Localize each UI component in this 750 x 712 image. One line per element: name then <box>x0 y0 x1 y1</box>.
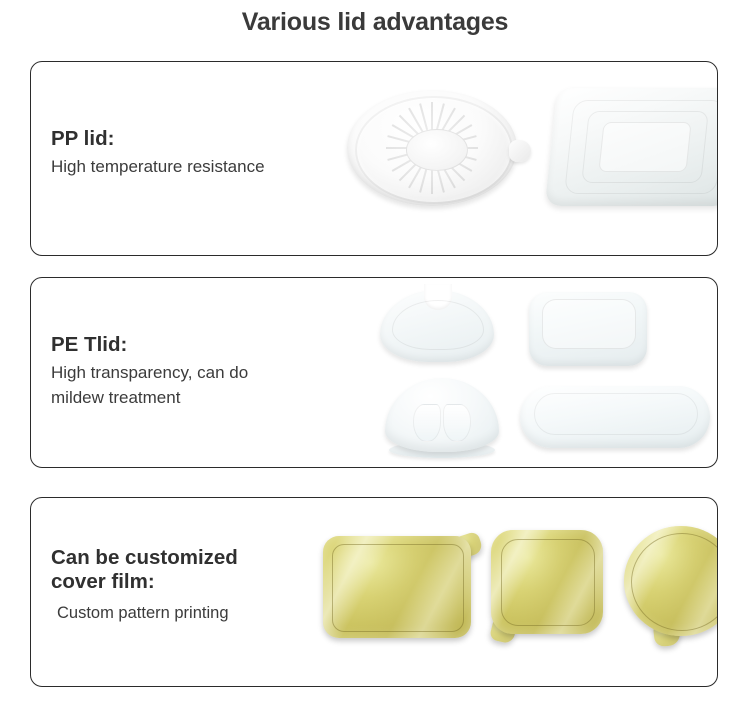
card-pp-lid: PP lid: High temperature resistance <box>30 61 718 256</box>
gold-foil-square-film-sheen <box>491 530 603 634</box>
pp-round-lid-image <box>341 84 531 214</box>
pp-rectangular-lid-rib-inner <box>598 122 691 172</box>
card-cover-film: Can be customized cover film: Custom pat… <box>30 497 718 687</box>
gold-foil-round-film-sheen <box>624 526 718 636</box>
gold-foil-rectangular-film-sheen <box>323 536 471 638</box>
gold-foil-rectangular-film-plate <box>323 536 471 638</box>
pe-heart-lid-image <box>376 286 500 372</box>
pp-rectangular-lid-image <box>543 80 718 220</box>
gold-foil-square-film-image <box>481 522 621 652</box>
pp-round-lid-center-hub <box>406 129 468 171</box>
pe-oval-lid-image <box>516 382 716 460</box>
pe-dome-lid-image <box>381 376 505 460</box>
card-pe-tlid-images <box>331 278 717 467</box>
pe-dome-lid-segment-left <box>413 404 441 442</box>
pe-oval-lid-inner-ring <box>534 393 698 435</box>
card-pe-tlid-text: PE Tlid: High transparency, can do milde… <box>51 333 341 410</box>
card-pp-lid-subtext: High temperature resistance <box>51 155 341 180</box>
gold-foil-round-film-image <box>616 520 718 654</box>
card-cover-film-text: Can be customized cover film: Custom pat… <box>51 546 341 626</box>
pe-square-lid-image <box>523 284 655 376</box>
card-cover-film-heading: Can be customized cover film: <box>51 546 341 594</box>
pe-square-lid-inner-ring <box>542 299 636 349</box>
gold-foil-square-film-plate <box>491 530 603 634</box>
card-pe-tlid: PE Tlid: High transparency, can do milde… <box>30 277 718 468</box>
card-cover-film-subtext: Custom pattern printing <box>51 602 341 626</box>
gold-foil-rectangular-film-image <box>317 526 487 646</box>
card-pp-lid-text: PP lid: High temperature resistance <box>51 127 341 180</box>
pe-dome-lid-segment-right <box>443 404 471 442</box>
card-pe-tlid-heading: PE Tlid: <box>51 333 341 357</box>
card-cover-film-images <box>331 498 717 686</box>
gold-foil-round-film-plate <box>624 526 718 636</box>
card-pp-lid-heading: PP lid: <box>51 127 341 151</box>
pp-round-lid-tab <box>509 140 531 162</box>
page-title: Various lid advantages <box>0 8 750 37</box>
pe-dome-lid-cap <box>385 378 499 452</box>
card-pp-lid-images <box>331 62 717 255</box>
card-pe-tlid-subtext: High transparency, can do mildew treatme… <box>51 361 341 410</box>
